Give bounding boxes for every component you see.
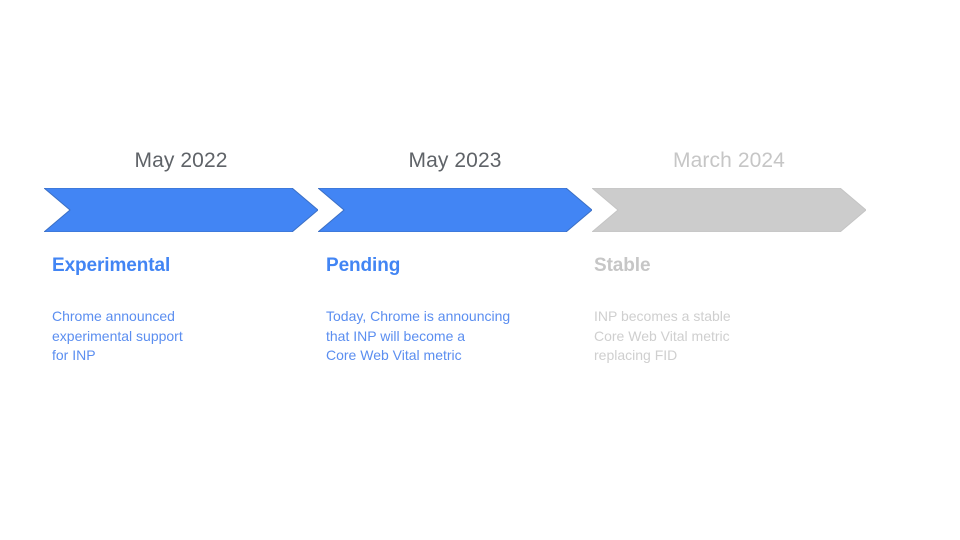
timeline-description-line: for INP [52,346,302,366]
timeline-column-1: Experimental Chrome announced experiment… [52,232,302,366]
timeline-chevron-segment-3 [592,188,866,232]
timeline-description-line: experimental support [52,327,302,347]
timeline-chevron-bar [44,188,862,232]
timeline-date-label-3: March 2024 [592,148,866,174]
timeline-description-line: INP becomes a stable [594,307,844,327]
timeline-description-line: replacing FID [594,346,844,366]
timeline-date-label-1: May 2022 [44,148,318,174]
timeline-date-label-2: May 2023 [318,148,592,174]
timeline-chevron-segment-1 [44,188,318,232]
timeline-heading-3: Stable [594,254,844,278]
timeline-heading-2: Pending [326,254,576,278]
timeline-description-line: Chrome announced [52,307,302,327]
timeline-description-line: Core Web Vital metric [594,327,844,347]
inp-timeline-diagram: May 2022 May 2023 March 2024 Experimenta… [44,148,862,378]
timeline-chevron-segment-2 [318,188,592,232]
timeline-column-2: Pending Today, Chrome is announcing that… [326,232,576,366]
timeline-description-2: Today, Chrome is announcing that INP wil… [326,307,576,366]
timeline-description-line: that INP will become a [326,327,576,347]
timeline-heading-1: Experimental [52,254,302,278]
chevron-arrow-icon [44,188,318,232]
chevron-arrow-icon [318,188,592,232]
timeline-column-3: Stable INP becomes a stable Core Web Vit… [594,232,844,366]
timeline-description-line: Today, Chrome is announcing [326,307,576,327]
timeline-description-1: Chrome announced experimental support fo… [52,307,302,366]
timeline-date-row: May 2022 May 2023 March 2024 [44,148,862,188]
timeline-description-line: Core Web Vital metric [326,346,576,366]
timeline-description-3: INP becomes a stable Core Web Vital metr… [594,307,844,366]
chevron-arrow-icon [592,188,866,232]
